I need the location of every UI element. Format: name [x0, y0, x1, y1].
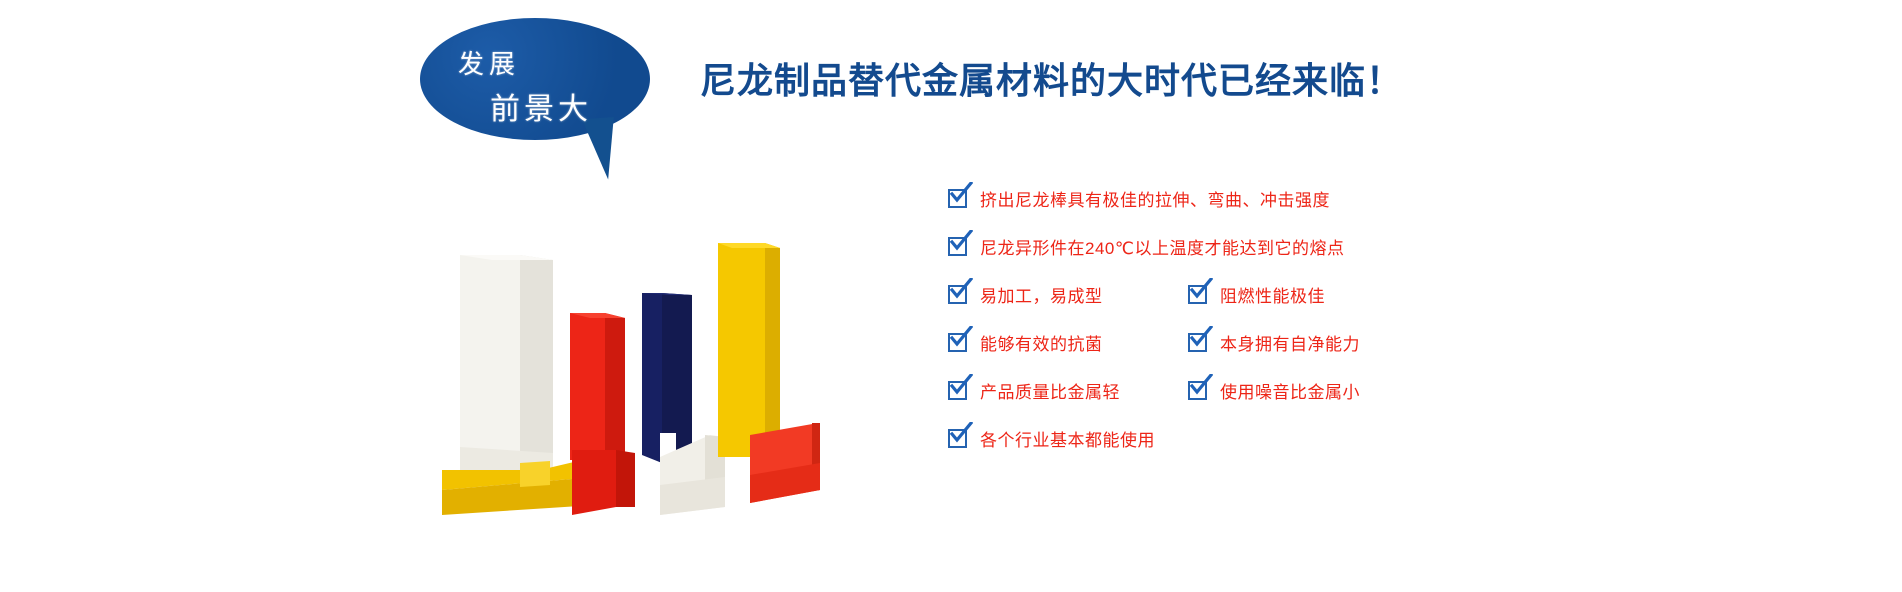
checkbox-checked-icon [948, 285, 967, 304]
headline: 尼龙制品替代金属材料的大时代已经来临！ [700, 52, 1403, 104]
checklist-item: 产品质量比金属轻 [948, 378, 1120, 403]
checkbox-checked-icon [948, 237, 967, 256]
checklist-item: 阻燃性能极佳 [1188, 282, 1325, 307]
checkbox-checked-icon [948, 333, 967, 352]
speech-bubble-line2: 前景大 [490, 84, 592, 128]
checklist-row: 能够有效的抗菌 本身拥有自净能力 [948, 330, 1648, 378]
checklist-row: 挤出尼龙棒具有极佳的拉伸、弯曲、冲击强度 [948, 186, 1648, 234]
product-photo-illustration [420, 185, 850, 515]
checklist-item-label: 产品质量比金属轻 [980, 378, 1120, 403]
checklist-row: 尼龙异形件在240℃以上温度才能达到它的熔点 [948, 234, 1648, 282]
checklist-item-label: 各个行业基本都能使用 [980, 426, 1155, 451]
checklist-item-label: 本身拥有自净能力 [1220, 330, 1360, 355]
checklist-item: 尼龙异形件在240℃以上温度才能达到它的熔点 [948, 234, 1344, 259]
checklist-item-label: 尼龙异形件在240℃以上温度才能达到它的熔点 [980, 234, 1344, 259]
checklist-row: 各个行业基本都能使用 [948, 426, 1648, 474]
checklist-item: 本身拥有自净能力 [1188, 330, 1360, 355]
checkbox-checked-icon [1188, 381, 1207, 400]
checkbox-checked-icon [1188, 285, 1207, 304]
checklist-item: 各个行业基本都能使用 [948, 426, 1155, 451]
checkbox-checked-icon [948, 381, 967, 400]
product-navy-u-channel [642, 293, 692, 463]
checklist-item-label: 挤出尼龙棒具有极佳的拉伸、弯曲、冲击强度 [980, 186, 1330, 211]
checkbox-checked-icon [948, 189, 967, 208]
speech-bubble-line1: 发展 [458, 44, 520, 81]
product-white-u-channel [460, 255, 553, 477]
checklist-item-label: 易加工，易成型 [980, 282, 1103, 307]
feature-checklist: 挤出尼龙棒具有极佳的拉伸、弯曲、冲击强度 尼龙异形件在240℃以上温度才能达到它… [948, 186, 1648, 474]
checklist-item-label: 能够有效的抗菌 [980, 330, 1103, 355]
speech-bubble: 发展 前景大 [420, 18, 665, 183]
checklist-item-label: 阻燃性能极佳 [1220, 282, 1325, 307]
product-red-angle-right [750, 423, 820, 503]
checkbox-checked-icon [948, 429, 967, 448]
checkbox-checked-icon [1188, 333, 1207, 352]
checklist-item: 使用噪音比金属小 [1188, 378, 1360, 403]
checklist-row: 易加工，易成型 阻燃性能极佳 [948, 282, 1648, 330]
promo-banner: 发展 前景大 尼龙制品替代金属材料的大时代已经来临！ [0, 0, 1902, 592]
product-photo [420, 185, 850, 515]
product-red-base [572, 450, 635, 515]
checklist-item: 易加工，易成型 [948, 282, 1103, 307]
checklist-item: 能够有效的抗菌 [948, 330, 1103, 355]
checklist-row: 产品质量比金属轻 使用噪音比金属小 [948, 378, 1648, 426]
checklist-item: 挤出尼龙棒具有极佳的拉伸、弯曲、冲击强度 [948, 186, 1330, 211]
speech-bubble-text: 发展 前景大 [420, 18, 650, 140]
product-yellow-angle [718, 243, 780, 457]
product-red-angle [570, 313, 625, 460]
checklist-item-label: 使用噪音比金属小 [1220, 378, 1360, 403]
